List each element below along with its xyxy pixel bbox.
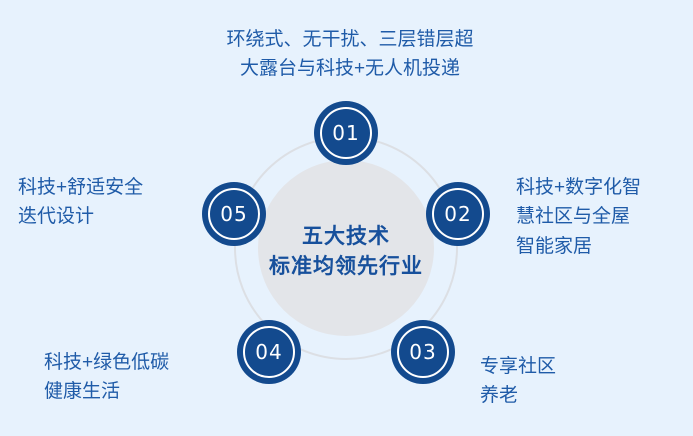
badge-number-05: 05 <box>202 182 266 246</box>
badge-number-04: 04 <box>237 320 301 384</box>
node-label-01: 环绕式、无干扰、三层错层超 大露台与科技+无人机投递 <box>150 25 550 84</box>
node-badge-01[interactable]: 01 <box>314 101 378 165</box>
node-badge-04[interactable]: 04 <box>237 320 301 384</box>
badge-number-01: 01 <box>314 101 378 165</box>
node-badge-05[interactable]: 05 <box>202 182 266 246</box>
node-badge-03[interactable]: 03 <box>391 320 455 384</box>
node-label-04: 科技+绿色低碳 健康生活 <box>44 348 244 407</box>
node-label-02: 科技+数字化智 慧社区与全屋 智能家居 <box>516 173 693 261</box>
infographic-canvas: 五大技术 标准均领先行业 01 02 03 04 05 环绕式、无干扰、三层错层… <box>0 0 693 436</box>
badge-number-03: 03 <box>391 320 455 384</box>
node-badge-02[interactable]: 02 <box>426 182 490 246</box>
center-title-line2: 标准均领先行业 <box>232 252 460 282</box>
node-label-03: 专享社区 养老 <box>480 352 680 411</box>
badge-number-02: 02 <box>426 182 490 246</box>
node-label-05: 科技+舒适安全 迭代设计 <box>18 173 208 232</box>
